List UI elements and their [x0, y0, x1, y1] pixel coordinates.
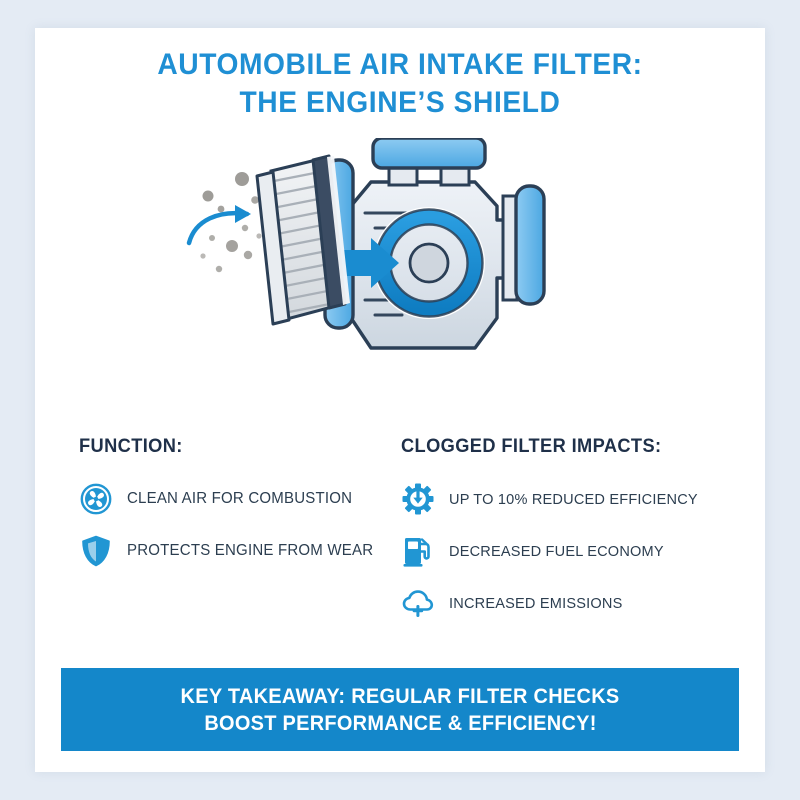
engine-illustration	[185, 138, 615, 423]
valve-cover-cap	[373, 138, 485, 185]
list-item: INCREASED EMISSIONS	[401, 584, 741, 622]
exhaust-port	[503, 186, 544, 304]
infographic-card: AUTOMOBILE AIR INTAKE FILTER: THE ENGINE…	[35, 28, 765, 772]
page-title: AUTOMOBILE AIR INTAKE FILTER: THE ENGINE…	[35, 46, 765, 122]
fan-icon	[79, 482, 113, 516]
list-item-label: PROTECTS ENGINE FROM WEAR	[127, 542, 373, 560]
list-item: PROTECTS ENGINE FROM WEAR	[79, 532, 409, 570]
function-column: FUNCTION: CLEAN AIR	[79, 436, 409, 584]
gear-down-arrow-icon	[401, 482, 435, 516]
list-item-label: UP TO 10% REDUCED EFFICIENCY	[449, 491, 698, 508]
list-item: CLEAN AIR FOR COMBUSTION	[79, 480, 409, 518]
key-takeaway-banner: KEY TAKEAWAY: REGULAR FILTER CHECKS BOOS…	[61, 668, 739, 751]
list-item-label: CLEAN AIR FOR COMBUSTION	[127, 490, 352, 508]
title-line-2: THE ENGINE’S SHIELD	[57, 84, 743, 122]
impacts-column: CLOGGED FILTER IMPACTS:	[401, 436, 741, 636]
impacts-heading: CLOGGED FILTER IMPACTS:	[401, 436, 727, 458]
shield-icon	[79, 534, 113, 568]
function-heading: FUNCTION:	[79, 436, 396, 458]
banner-line-2: BOOST PERFORMANCE & EFFICIENCY!	[204, 710, 596, 737]
cloud-emissions-icon	[401, 586, 435, 620]
title-line-1: AUTOMOBILE AIR INTAKE FILTER:	[57, 46, 743, 84]
list-item: DECREASED FUEL ECONOMY	[401, 532, 741, 570]
list-item: UP TO 10% REDUCED EFFICIENCY	[401, 480, 741, 518]
detail-columns: FUNCTION: CLEAN AIR	[35, 436, 765, 641]
dust-particles	[200, 172, 261, 272]
list-item-label: DECREASED FUEL ECONOMY	[449, 543, 664, 560]
fuel-pump-icon	[401, 534, 435, 568]
banner-line-1: KEY TAKEAWAY: REGULAR FILTER CHECKS	[181, 683, 620, 710]
list-item-label: INCREASED EMISSIONS	[449, 595, 622, 612]
